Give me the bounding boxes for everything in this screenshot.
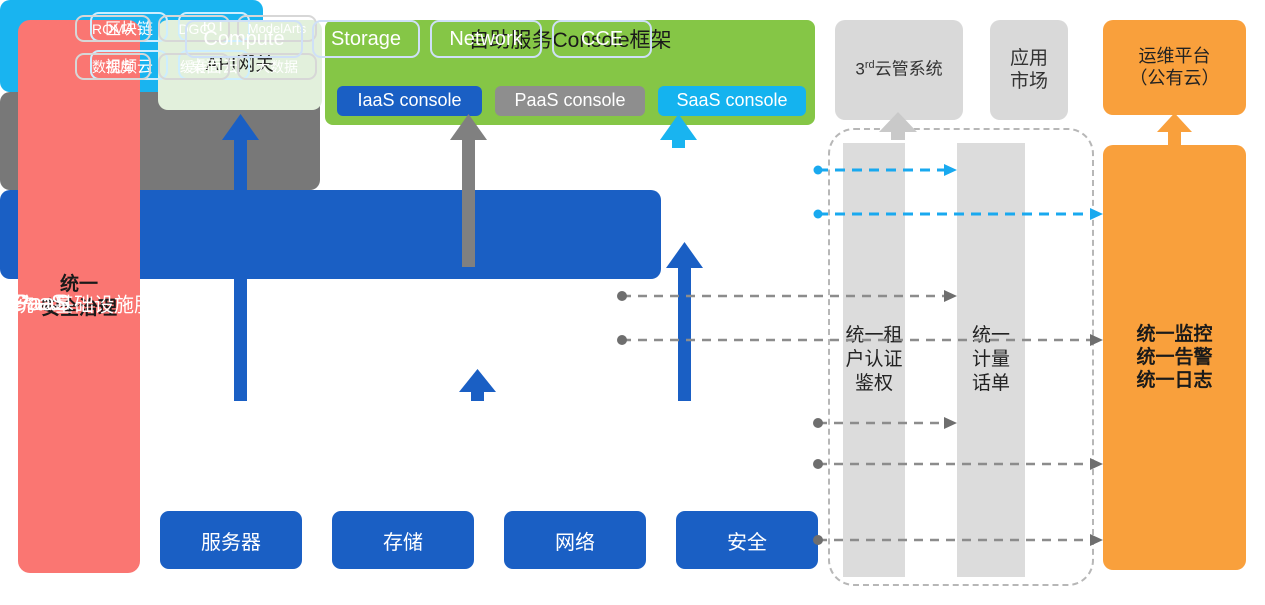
auth-line3: 鉴权	[845, 372, 902, 396]
paas-chip-bigdata-label: 大数据	[256, 57, 298, 77]
third-party-cloud-label: 3rd云管系统	[855, 59, 942, 80]
third-party-prefix: 3	[855, 60, 864, 79]
paas-chip-database-label: 数据库	[92, 57, 134, 77]
third-party-cloud-mgmt-box[interactable]: 3rd云管系统	[835, 20, 963, 120]
third-party-suffix: 云管系统	[875, 60, 943, 79]
resource-box-storage-label: 存储	[383, 526, 423, 555]
infra-chip-storage-label: Storage	[331, 28, 401, 51]
ops-platform-body-label: 统一监控 统一告警 统一日志	[1136, 323, 1212, 393]
infra-chip-compute-label: Compute	[203, 28, 284, 51]
paas-console-chip[interactable]: PaaS console	[495, 86, 645, 116]
resource-box-storage[interactable]: 存储	[332, 511, 474, 569]
billing-line1: 统一	[972, 324, 1010, 348]
unified-tenant-auth-column[interactable]: 统一租 户认证 鉴权	[843, 143, 905, 577]
resource-box-server[interactable]: 服务器	[160, 511, 302, 569]
ops-platform-header-box[interactable]: 运维平台 （公有云）	[1103, 20, 1246, 115]
unified-metering-billing-column[interactable]: 统一 计量 话单	[957, 143, 1025, 577]
infra-chip-storage[interactable]: Storage	[312, 20, 420, 58]
third-party-superscript: rd	[865, 59, 875, 71]
auth-line2: 户认证	[845, 348, 902, 372]
saas-console-label: SaaS console	[676, 90, 787, 112]
infra-chip-network[interactable]: Network	[430, 20, 542, 58]
unified-metering-billing-label: 统一 计量 话单	[972, 324, 1010, 395]
infra-chip-cce[interactable]: CCE	[552, 20, 652, 58]
saas-console-chip[interactable]: SaaS console	[658, 86, 806, 116]
arrow-ops-body-to-header	[1157, 113, 1192, 146]
app-market-line1: 应用	[1010, 47, 1048, 70]
arrow-infra-to-paas	[459, 369, 496, 401]
paas-chip-roma[interactable]: ROMA	[75, 15, 151, 42]
infra-chip-cce-label: CCE	[581, 28, 623, 51]
auth-line1: 统一租	[845, 324, 902, 348]
ops-body-line2: 统一告警	[1136, 346, 1212, 369]
paas-console-label: PaaS console	[514, 90, 625, 112]
billing-line3: 话单	[972, 372, 1010, 396]
iaas-console-label: IaaS console	[357, 90, 461, 112]
arrow-infra-to-saas	[666, 242, 703, 401]
resource-box-security[interactable]: 安全	[676, 511, 818, 569]
architecture-diagram: 统一 安全治理 API网关 自助服务Console框架 IaaS console…	[0, 0, 1265, 605]
ops-platform-body-panel[interactable]: 统一监控 统一告警 统一日志	[1103, 145, 1246, 570]
infra-chip-network-label: Network	[449, 28, 522, 51]
app-market-line2: 市场	[1010, 70, 1048, 93]
ops-body-line1: 统一监控	[1136, 323, 1212, 346]
resource-box-network-label: 网络	[555, 526, 595, 555]
paas-chip-cache-label: 缓存	[180, 57, 208, 77]
app-market-label: 应用 市场	[1010, 47, 1048, 93]
unified-tenant-auth-label: 统一租 户认证 鉴权	[845, 324, 902, 395]
ops-platform-line1: 运维平台	[1130, 46, 1220, 68]
iaas-console-chip[interactable]: IaaS console	[337, 86, 482, 116]
app-market-box[interactable]: 应用 市场	[990, 20, 1068, 120]
billing-line2: 计量	[972, 348, 1010, 372]
ops-platform-header-label: 运维平台 （公有云）	[1130, 46, 1220, 90]
resource-box-security-label: 安全	[727, 526, 767, 555]
resource-box-network[interactable]: 网络	[504, 511, 646, 569]
infra-chip-compute[interactable]: Compute	[185, 20, 303, 58]
ops-body-line3: 统一日志	[1136, 369, 1212, 392]
ops-platform-line2: （公有云）	[1130, 68, 1220, 90]
paas-chip-roma-label: ROMA	[92, 21, 134, 37]
resource-box-server-label: 服务器	[201, 526, 261, 555]
infra-layer-label: 统一基础设施服务	[14, 288, 174, 317]
paas-chip-database[interactable]: 数据库	[75, 53, 151, 80]
